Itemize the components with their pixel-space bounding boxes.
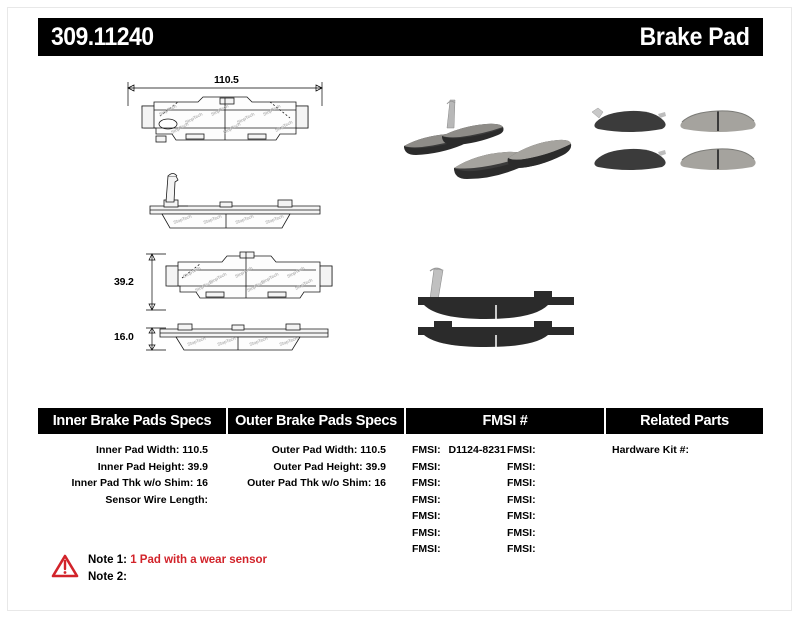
- fmsi-value: D1124-8231: [444, 444, 506, 456]
- column-header-fmsi: FMSI #: [404, 408, 604, 434]
- notes-section: Note 1: 1 Pad with a wear sensor Note 2:: [52, 552, 267, 586]
- fmsi-row: FMSI:: [412, 525, 507, 542]
- column-inner-specs: Inner Pad Width: 110.5 Inner Pad Height:…: [38, 434, 226, 558]
- pad-photo-tr: [680, 111, 755, 132]
- column-header-inner: Inner Brake Pads Specs: [38, 408, 226, 434]
- fmsi-row: FMSI:: [412, 541, 507, 558]
- drawing-pad-edge-sensor: StopTech StopTech StopTech StopTech: [140, 170, 330, 232]
- photo-pads-topdown: [578, 100, 768, 178]
- header-bar: 309.11240 Brake Pad: [38, 18, 763, 56]
- spec-value: 39.9: [188, 461, 208, 473]
- fmsi-row: FMSI:: [412, 508, 507, 525]
- spec-row: Outer Pad Thk w/o Shim: 16: [226, 475, 386, 492]
- fmsi-row: FMSI:: [507, 492, 602, 509]
- spec-value: 16: [196, 477, 208, 489]
- fmsi-subcolumn-left: FMSI: D1124-8231 FMSI: FMSI: FMSI:: [412, 442, 507, 558]
- fmsi-value: [536, 527, 541, 539]
- column-related-parts: Hardware Kit #:: [604, 434, 763, 558]
- fmsi-subcolumn-right: FMSI: FMSI: FMSI: FMSI:: [507, 442, 602, 558]
- fmsi-label: FMSI:: [507, 477, 536, 489]
- dimension-label-height: 39.2: [114, 276, 134, 288]
- fmsi-value: [536, 510, 541, 522]
- note-1-row: Note 1: 1 Pad with a wear sensor: [88, 552, 267, 569]
- pad-photo-right: [508, 140, 571, 168]
- related-part-row: Hardware Kit #:: [604, 442, 763, 459]
- fmsi-label: FMSI:: [412, 444, 441, 456]
- pad-photo-with-sensor: [442, 100, 503, 145]
- fmsi-value: [441, 477, 446, 489]
- fmsi-row: FMSI:: [507, 508, 602, 525]
- drawing-pad-face-bottom: StopTech StopTech StopTech StopTech Stop…: [120, 248, 330, 316]
- fmsi-label: FMSI:: [412, 494, 441, 506]
- spec-label: Outer Pad Width:: [272, 444, 358, 456]
- related-part-label: Hardware Kit #:: [612, 444, 689, 456]
- pad-photo-br: [680, 149, 755, 170]
- fmsi-value: [536, 461, 541, 473]
- dimension-height: [146, 254, 166, 310]
- fmsi-label: FMSI:: [412, 477, 441, 489]
- fmsi-value: [441, 494, 446, 506]
- fmsi-label: FMSI:: [507, 510, 536, 522]
- product-title: Brake Pad: [640, 23, 750, 52]
- fmsi-label: FMSI:: [507, 527, 536, 539]
- fmsi-row: FMSI:: [507, 541, 602, 558]
- fmsi-label: FMSI:: [507, 543, 536, 555]
- note-1-text: 1 Pad with a wear sensor: [130, 554, 267, 566]
- fmsi-value: [536, 494, 541, 506]
- table-header-row: Inner Brake Pads Specs Outer Brake Pads …: [38, 408, 763, 434]
- column-header-related: Related Parts: [604, 408, 763, 434]
- spec-value: 39.9: [366, 461, 386, 473]
- fmsi-value: [441, 461, 446, 473]
- fmsi-value: [536, 477, 541, 489]
- dimension-label-width: 110.5: [214, 74, 239, 86]
- pad-photo-edge-top: [418, 268, 574, 319]
- spec-row: Inner Pad Height: 39.9: [38, 459, 208, 476]
- fmsi-label: FMSI:: [412, 461, 441, 473]
- fmsi-row: FMSI:: [412, 459, 507, 476]
- spec-value: 110.5: [360, 444, 386, 456]
- fmsi-row: FMSI:: [507, 525, 602, 542]
- fmsi-row: FMSI: D1124-8231: [412, 442, 507, 459]
- fmsi-label: FMSI:: [507, 494, 536, 506]
- fmsi-value: [441, 510, 446, 522]
- part-number: 309.11240: [51, 23, 153, 52]
- fmsi-label: FMSI:: [507, 461, 536, 473]
- column-fmsi: FMSI: D1124-8231 FMSI: FMSI: FMSI:: [404, 434, 604, 558]
- fmsi-value: [536, 444, 541, 456]
- photo-pads-perspective: [392, 96, 572, 182]
- note-1-label: Note 1:: [88, 552, 127, 569]
- spec-value: 16: [374, 477, 386, 489]
- spec-label: Outer Pad Height:: [273, 461, 362, 473]
- fmsi-row: FMSI:: [507, 459, 602, 476]
- pad-photo-tl: [592, 108, 666, 132]
- fmsi-row: FMSI:: [412, 492, 507, 509]
- spec-row: Inner Pad Width: 110.5: [38, 442, 208, 459]
- fmsi-row: FMSI:: [507, 475, 602, 492]
- spec-label: Inner Pad Thk w/o Shim:: [71, 477, 193, 489]
- spec-label: Inner Pad Width:: [96, 444, 179, 456]
- table-body: Inner Pad Width: 110.5 Inner Pad Height:…: [38, 434, 763, 558]
- fmsi-label: FMSI:: [412, 527, 441, 539]
- spec-row: Outer Pad Height: 39.9: [226, 459, 386, 476]
- specs-table: Inner Brake Pads Specs Outer Brake Pads …: [38, 408, 763, 558]
- note-2-row: Note 2:: [88, 569, 267, 586]
- spec-label: Inner Pad Height:: [98, 461, 185, 473]
- drawing-pad-thickness: StopTech StopTech StopTech StopTech: [120, 320, 330, 364]
- spec-label: Outer Pad Thk w/o Shim:: [247, 477, 371, 489]
- spec-value: 110.5: [182, 444, 208, 456]
- spec-row: Sensor Wire Length:: [38, 492, 208, 509]
- spec-label: Sensor Wire Length:: [105, 494, 208, 506]
- fmsi-value: [441, 543, 446, 555]
- fmsi-row: FMSI:: [507, 442, 602, 459]
- pad-photo-bl: [594, 149, 666, 170]
- warning-triangle-icon: [52, 554, 78, 578]
- note-2-label: Note 2:: [88, 569, 127, 586]
- pad-photo-edge-bottom: [418, 321, 574, 347]
- fmsi-label: FMSI:: [412, 510, 441, 522]
- fmsi-label: FMSI:: [507, 444, 536, 456]
- fmsi-label: FMSI:: [412, 543, 441, 555]
- photo-pads-edge-pair: [400, 255, 590, 347]
- fmsi-row: FMSI:: [412, 475, 507, 492]
- column-outer-specs: Outer Pad Width: 110.5 Outer Pad Height:…: [226, 434, 404, 558]
- dimension-label-thickness: 16.0: [114, 331, 134, 343]
- spec-row: Inner Pad Thk w/o Shim: 16: [38, 475, 208, 492]
- fmsi-value: [441, 527, 446, 539]
- column-header-outer: Outer Brake Pads Specs: [226, 408, 404, 434]
- fmsi-value: [536, 543, 541, 555]
- spec-row: Outer Pad Width: 110.5: [226, 442, 386, 459]
